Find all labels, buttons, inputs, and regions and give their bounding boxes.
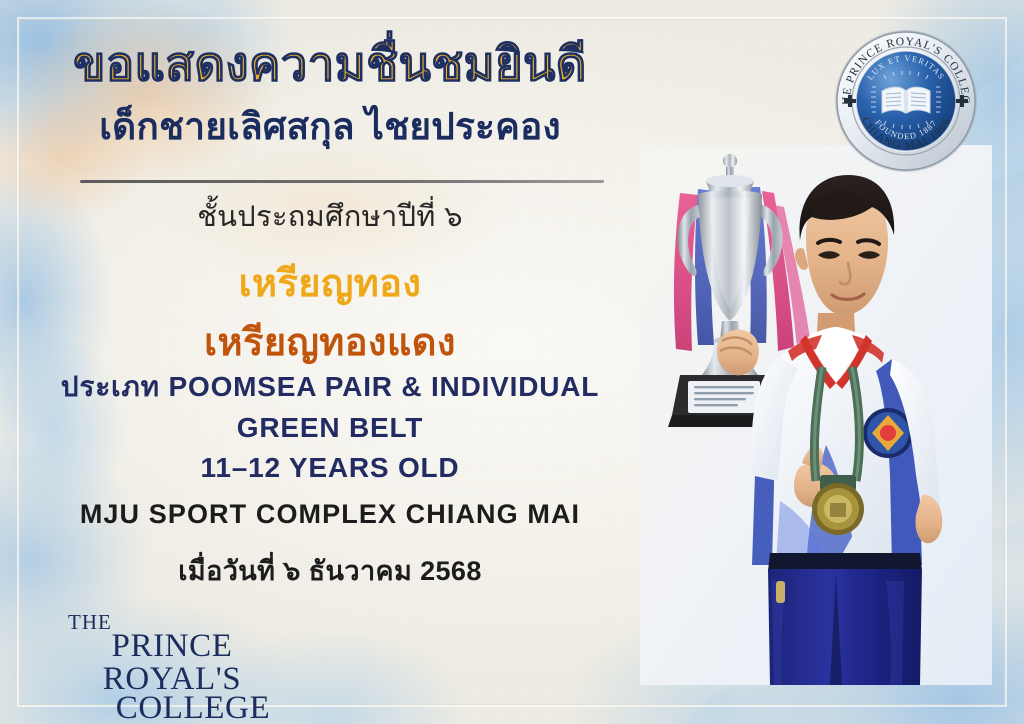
student-name: เด็กชายเลิศสกุล ไชยประคอง	[0, 106, 660, 149]
award-bronze-medal: เหรียญทองแดง	[0, 311, 660, 372]
award-gold-medal: เหรียญทอง	[0, 252, 660, 313]
school-wordmark: THE PRINCE ROYAL'S COLLEGE	[42, 612, 302, 724]
category-line-2: GREEN BELT	[0, 408, 660, 449]
event-date: เมื่อวันที่ ๖ ธันวาคม 2568	[0, 549, 660, 592]
page-title-headline: ขอแสดงความชื่นชมยินดี	[0, 38, 660, 90]
category-line-3: 11–12 YEARS OLD	[0, 448, 660, 489]
grade-level: ชั้นประถมศึกษาปีที่ ๖	[0, 193, 660, 239]
open-book-icon	[882, 87, 930, 113]
school-seal: THE PRINCE ROYAL'S COLLEGE CHIANG MAI 19…	[832, 27, 980, 175]
wordmark-college: COLLEGE	[84, 692, 302, 724]
event-venue: MJU SPORT COMPLEX CHIANG MAI	[0, 499, 660, 530]
wordmark-prince-royals: PRINCE ROYAL'S	[42, 630, 302, 696]
congratulations-poster: THE PRINCE ROYAL'S COLLEGE CHIANG MAI 19…	[0, 0, 1024, 724]
title-divider	[80, 180, 604, 183]
student-photo-illustration	[640, 145, 992, 685]
student-photo	[640, 145, 992, 685]
prince-royals-college-seal-icon: THE PRINCE ROYAL'S COLLEGE CHIANG MAI 19…	[832, 27, 980, 175]
category-line-1: ประเภท POOMSEA PAIR & INDIVIDUAL	[0, 367, 660, 408]
competition-category: ประเภท POOMSEA PAIR & INDIVIDUAL GREEN B…	[0, 367, 660, 489]
